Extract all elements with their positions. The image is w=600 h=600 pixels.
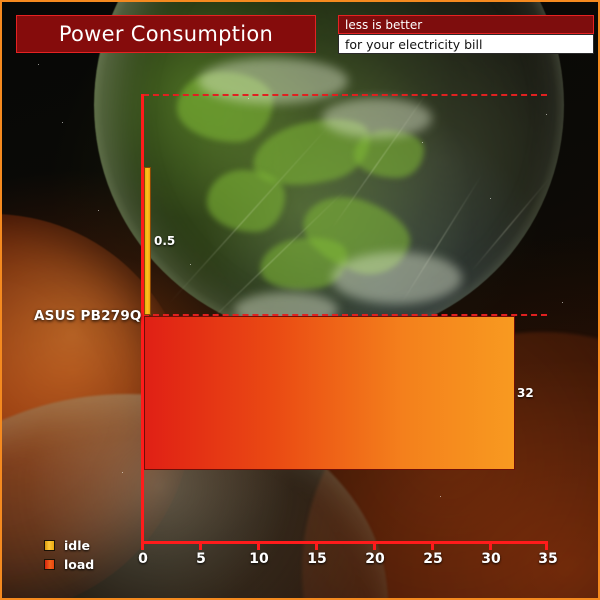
x-axis-tick-label: 10 xyxy=(249,551,268,567)
legend-label-load: load xyxy=(64,557,94,572)
legend-item-load: load xyxy=(44,555,94,574)
x-axis-tick-label: 30 xyxy=(481,551,500,567)
x-axis-tick xyxy=(431,541,434,550)
bar-load-value-label: 32 xyxy=(517,386,534,400)
legend-swatch-icon xyxy=(44,559,55,570)
x-axis-tick xyxy=(141,541,144,550)
bar-idle-value-label: 0.5 xyxy=(154,234,175,248)
chart-canvas: Power Consumption less is better for you… xyxy=(0,0,600,600)
guide-line-top xyxy=(143,94,547,96)
x-axis-tick-label: 35 xyxy=(538,551,557,567)
chart-title-box: Power Consumption xyxy=(16,15,316,53)
legend-item-idle: idle xyxy=(44,536,94,555)
legend-swatch-icon xyxy=(44,540,55,551)
page-title: Power Consumption xyxy=(59,22,273,46)
note-secondary-text: for your electricity bill xyxy=(345,37,482,52)
x-axis-tick xyxy=(257,541,260,550)
x-axis-tick-label: 5 xyxy=(196,551,206,567)
note-secondary-box: for your electricity bill xyxy=(338,34,594,54)
x-axis-tick xyxy=(199,541,202,550)
legend-label-idle: idle xyxy=(64,538,90,553)
bar-idle xyxy=(144,167,151,315)
x-axis-tick xyxy=(373,541,376,550)
series-group-label: ASUS PB279Q xyxy=(34,308,142,324)
bar-load xyxy=(144,316,515,470)
x-axis-tick-label: 25 xyxy=(423,551,442,567)
x-axis-tick xyxy=(489,541,492,550)
legend: idle load xyxy=(44,536,94,574)
chart-header: Power Consumption less is better for you… xyxy=(2,2,600,64)
x-axis-tick-label: 20 xyxy=(365,551,384,567)
x-axis-tick-label: 0 xyxy=(138,551,148,567)
note-primary-box: less is better xyxy=(338,15,594,34)
x-axis-tick xyxy=(545,541,548,550)
plot-area: 0 5 10 15 20 25 30 35 ASUS PB279Q 0.5 32 xyxy=(2,2,600,600)
x-axis-tick-label: 15 xyxy=(307,551,326,567)
x-axis-tick xyxy=(315,541,318,550)
note-primary-text: less is better xyxy=(345,18,422,32)
